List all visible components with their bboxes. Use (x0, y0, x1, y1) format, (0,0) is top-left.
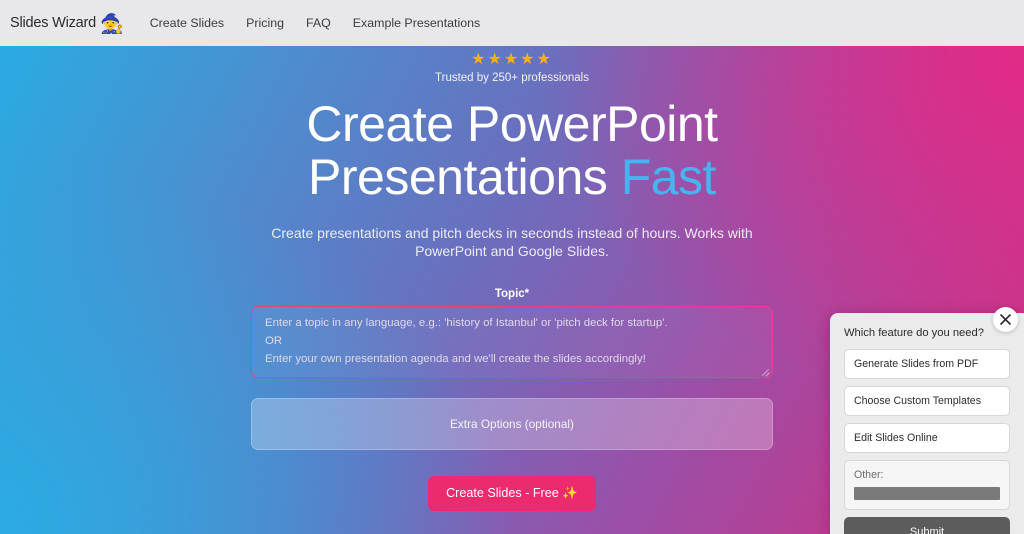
survey-option-choose-custom-templates[interactable]: Choose Custom Templates (844, 386, 1010, 416)
brand-logo[interactable]: Slides Wizard 🧙 (10, 14, 124, 33)
extra-options-toggle[interactable]: Extra Options (optional) (251, 398, 773, 450)
survey-submit-button[interactable]: Submit (844, 517, 1010, 534)
survey-other-input[interactable] (854, 487, 1000, 500)
nav-link-example-presentations[interactable]: Example Presentations (353, 16, 480, 30)
survey-popup: Which feature do you need? Generate Slid… (830, 313, 1024, 534)
survey-option-other[interactable]: Other: (844, 460, 1010, 510)
trust-text: Trusted by 250+ professionals (0, 72, 1024, 84)
hero-subheadline: Create presentations and pitch decks in … (252, 224, 772, 262)
nav-link-faq[interactable]: FAQ (306, 16, 331, 30)
page-title: Create PowerPoint Presentations Fast (0, 98, 1024, 204)
create-slides-button[interactable]: Create Slides - Free ✨ (428, 476, 596, 511)
extra-options-label: Extra Options (optional) (450, 417, 574, 431)
survey-question: Which feature do you need? (844, 327, 1010, 339)
survey-option-generate-slides-from-pdf[interactable]: Generate Slides from PDF (844, 349, 1010, 379)
topic-input-wrapper (251, 306, 773, 378)
survey-option-edit-slides-online[interactable]: Edit Slides Online (844, 423, 1010, 453)
nav-links: Create Slides Pricing FAQ Example Presen… (150, 16, 480, 30)
wizard-icon: 🧙 (100, 15, 124, 34)
nav-link-pricing[interactable]: Pricing (246, 16, 284, 30)
close-icon[interactable] (993, 307, 1018, 332)
topic-input[interactable] (251, 306, 773, 378)
headline-line-1: Create PowerPoint (306, 96, 717, 152)
nav-link-create-slides[interactable]: Create Slides (150, 16, 224, 30)
slide-generation-form: Topic* Extra Options (optional) Create S… (251, 288, 773, 511)
headline-accent-word: Fast (621, 149, 716, 205)
rating-stars: ★★★★★ (0, 46, 1024, 69)
brand-name: Slides Wizard (10, 15, 96, 31)
cta-row: Create Slides - Free ✨ (251, 476, 773, 511)
top-navigation-bar: Slides Wizard 🧙 Create Slides Pricing FA… (0, 0, 1024, 46)
headline-line-2: Presentations (308, 149, 621, 205)
topic-label: Topic* (251, 288, 773, 300)
survey-other-label: Other: (854, 469, 1000, 481)
